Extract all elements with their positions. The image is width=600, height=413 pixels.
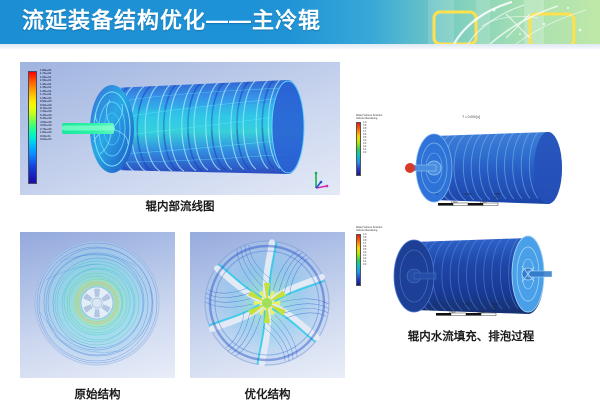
figure-vof-fill-top: Water Volume Fraction Volume Rendering 1… — [352, 108, 590, 218]
vof-top-render — [352, 108, 590, 218]
figure-vof-fill-bottom: Water Volume Fraction Volume Rendering 1… — [352, 224, 590, 328]
roll-streamline-render — [20, 62, 340, 195]
vof-bottom-scalebar — [436, 313, 496, 316]
page-title: 流延装备结构优化——主冷辊 — [22, 5, 321, 37]
caption-optimized-section: 优化结构 — [190, 388, 345, 402]
figure-optimized-section — [190, 232, 345, 378]
original-section-render — [20, 232, 175, 378]
caption-volume-rendering: 辊内水流填充、排泡过程 — [352, 330, 590, 344]
optimized-section-render — [190, 232, 345, 378]
header-underline — [0, 44, 600, 50]
vof-top-scalebar — [438, 203, 498, 206]
header-decoration — [420, 0, 600, 44]
axis-triad-icon — [312, 170, 330, 190]
caption-streamline: 辊内部流线图 — [20, 200, 340, 214]
vof-bottom-render — [352, 224, 590, 328]
figure-original-section — [20, 232, 175, 378]
page-header: 流延装备结构优化——主冷辊 — [0, 0, 600, 44]
figure-streamline: 1.80e+01 1.71e+01 1.62e+01 1.53e+01 1.44… — [20, 62, 340, 195]
caption-original-section: 原始结构 — [20, 388, 175, 402]
